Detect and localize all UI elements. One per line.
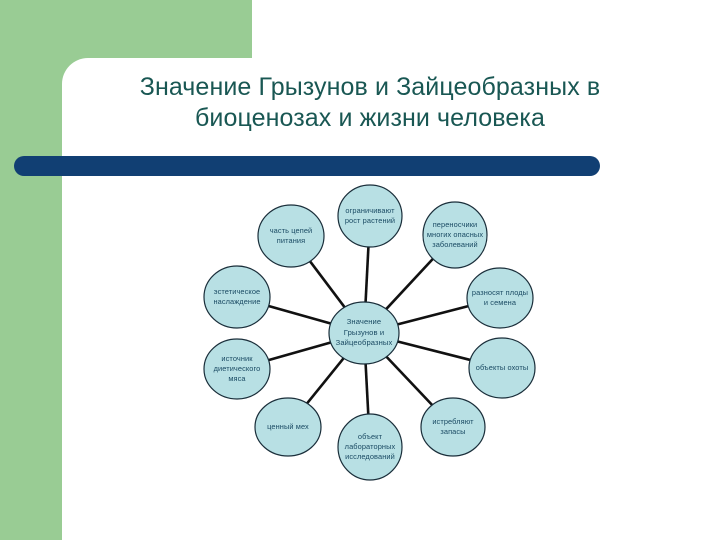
diagram-canvas — [0, 0, 720, 540]
connector-istochnik-dieticheskogo-myasa — [269, 342, 331, 360]
connector-perenoschiki-zabolevaniy — [386, 259, 433, 309]
slide-root: Значение Грызунов и Зайцеобразных в биоц… — [0, 0, 720, 540]
node-bubble-istochnik-dieticheskogo-myasa[interactable] — [204, 339, 270, 399]
node-bubble-ogranichivayut-rost-rasteniy[interactable] — [338, 185, 402, 247]
node-bubbles — [204, 185, 535, 480]
node-bubble-tsennyy-mekh[interactable] — [255, 398, 321, 456]
connector-obekty-okhoty — [398, 342, 471, 360]
node-bubble-obekty-okhoty[interactable] — [469, 338, 535, 398]
connector-chast-tsepey-pitaniya — [310, 261, 345, 307]
connector-istreblyayut-zapasy — [386, 357, 432, 405]
center-node-bubble[interactable] — [329, 302, 399, 364]
node-bubble-raznosyat-plody-i-semena[interactable] — [467, 268, 533, 328]
radial-diagram: ограничивают рост растенийпереносчики мн… — [0, 0, 720, 540]
connector-esteticheskoe-naslazhdenie — [269, 306, 331, 324]
node-bubble-chast-tsepey-pitaniya[interactable] — [258, 205, 324, 267]
node-bubble-obekt-laboratornykh-issledovaniy[interactable] — [338, 414, 402, 480]
node-bubble-perenoschiki-zabolevaniy[interactable] — [423, 202, 487, 268]
connector-obekt-laboratornykh-issledovaniy — [366, 364, 369, 414]
node-bubble-istreblyayut-zapasy[interactable] — [421, 398, 485, 456]
connector-ogranichivayut-rost-rasteniy — [366, 247, 369, 302]
node-bubble-esteticheskoe-naslazhdenie[interactable] — [204, 266, 270, 328]
connector-raznosyat-plody-i-semena — [398, 306, 469, 324]
connector-tsennyy-mekh — [307, 358, 344, 403]
